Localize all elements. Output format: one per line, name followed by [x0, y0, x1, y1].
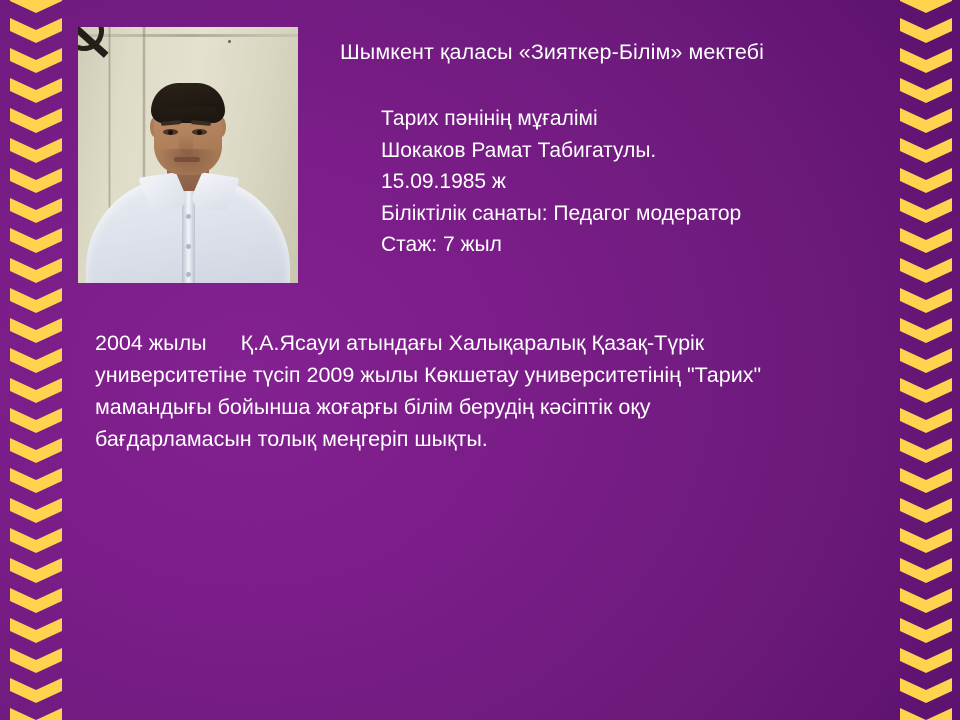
- chevron-down-icon: [898, 648, 954, 678]
- right-chevron-border: [898, 0, 954, 720]
- chevron-down-icon: [898, 468, 954, 498]
- chevron-down-icon: [8, 558, 64, 588]
- chevron-down-icon: [8, 678, 64, 708]
- teacher-portrait-photo: [78, 27, 298, 283]
- chevron-down-icon: [8, 258, 64, 288]
- info-full-name: Шокаков Рамат Табигатулы.: [381, 135, 741, 167]
- chevron-down-icon: [898, 618, 954, 648]
- bio-line-4: бағдарламасын толық меңгеріп шықты.: [95, 423, 885, 455]
- shirt-button: [186, 214, 191, 219]
- chevron-down-icon: [898, 0, 954, 18]
- chevron-down-icon: [898, 318, 954, 348]
- chevron-down-icon: [8, 18, 64, 48]
- info-qualification: Біліктілік санаты: Педагог модератор: [381, 198, 741, 230]
- page-title: Шымкент қаласы «Зияткер-Білім» мектебі: [340, 40, 764, 65]
- chevron-down-icon: [8, 588, 64, 618]
- mouth: [174, 157, 200, 162]
- chevron-down-icon: [8, 288, 64, 318]
- chevron-down-icon: [898, 678, 954, 708]
- bio-line-2: университетіне түсіп 2009 жылы Көкшетау …: [95, 359, 885, 391]
- chevron-down-icon: [898, 438, 954, 468]
- chevron-down-icon: [8, 78, 64, 108]
- hair: [151, 83, 225, 123]
- chevron-down-icon: [898, 348, 954, 378]
- chevron-down-icon: [8, 528, 64, 558]
- eye-right: [192, 129, 207, 135]
- chevron-down-icon: [8, 438, 64, 468]
- nose: [179, 135, 193, 153]
- chevron-down-icon: [898, 288, 954, 318]
- chevron-down-icon: [898, 108, 954, 138]
- biography-block: 2004 жылыҚ.А.Ясауи атындағы Халықаралық …: [95, 327, 885, 455]
- chevron-down-icon: [898, 138, 954, 168]
- shirt-button: [186, 272, 191, 277]
- chevron-down-icon: [898, 48, 954, 78]
- chevron-down-icon: [8, 618, 64, 648]
- eye-left: [163, 129, 178, 135]
- chevron-down-icon: [898, 258, 954, 288]
- bio-line-3: мамандығы бойынша жоғарғы білім берудің …: [95, 391, 885, 423]
- chevron-down-icon: [8, 708, 64, 720]
- chevron-down-icon: [8, 348, 64, 378]
- chevron-down-icon: [8, 198, 64, 228]
- info-birth-date: 15.09.1985 ж: [381, 166, 741, 198]
- chevron-down-icon: [898, 198, 954, 228]
- presentation-slide: Шымкент қаласы «Зияткер-Білім» мектебі Т…: [0, 0, 960, 720]
- info-experience: Стаж: 7 жыл: [381, 229, 741, 261]
- chevron-down-icon: [898, 708, 954, 720]
- chevron-down-icon: [898, 168, 954, 198]
- chevron-down-icon: [8, 408, 64, 438]
- chevron-down-icon: [8, 648, 64, 678]
- chevron-down-icon: [8, 468, 64, 498]
- chevron-down-icon: [898, 588, 954, 618]
- chevron-down-icon: [8, 168, 64, 198]
- chevron-down-icon: [8, 0, 64, 18]
- bio-university-name: Қ.А.Ясауи атындағы Халықаралық Қазақ-Түр…: [241, 331, 705, 355]
- chevron-down-icon: [8, 228, 64, 258]
- chevron-down-icon: [898, 228, 954, 258]
- teacher-info-block: Тарих пәнінің мұғалімі Шокаков Рамат Таб…: [381, 103, 741, 261]
- bio-line-1: 2004 жылыҚ.А.Ясауи атындағы Халықаралық …: [95, 327, 885, 359]
- chevron-down-icon: [8, 378, 64, 408]
- chevron-down-icon: [898, 498, 954, 528]
- chevron-down-icon: [898, 18, 954, 48]
- chevron-down-icon: [8, 138, 64, 168]
- info-subject: Тарих пәнінің мұғалімі: [381, 103, 741, 135]
- chevron-down-icon: [898, 528, 954, 558]
- person-figure: [78, 27, 298, 283]
- left-chevron-border: [8, 0, 64, 720]
- chevron-down-icon: [8, 48, 64, 78]
- chevron-down-icon: [898, 408, 954, 438]
- chevron-down-icon: [898, 378, 954, 408]
- shirt-button: [186, 244, 191, 249]
- bio-year-enrolled: 2004 жылы: [95, 331, 207, 355]
- chevron-down-icon: [8, 498, 64, 528]
- chevron-down-icon: [8, 108, 64, 138]
- chevron-down-icon: [8, 318, 64, 348]
- chevron-down-icon: [898, 78, 954, 108]
- chevron-down-icon: [898, 558, 954, 588]
